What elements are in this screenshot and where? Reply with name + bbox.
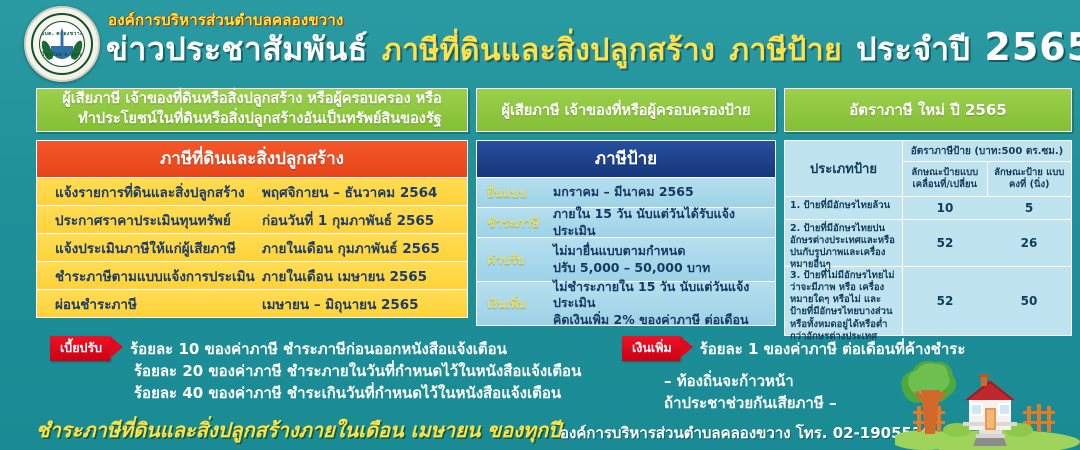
signboard-row-value-line2: ปรับ 5,000 – 50,000 บาท bbox=[553, 260, 769, 276]
column-header-taxpayer-land-line1: ผู้เสียภาษี เจ้าของที่ดินหรือสิ่งปลูกสร้… bbox=[62, 91, 441, 107]
signboard-tax-section-title: ภาษีป้าย bbox=[476, 140, 776, 178]
window-right bbox=[999, 404, 1010, 415]
land-tax-period: ก่อนวันที่ 1 กุมภาพันธ์ 2565 bbox=[262, 209, 467, 231]
land-tax-period: ภายในเดือน กุมภาพันธ์ 2565 bbox=[262, 237, 467, 259]
column-header-new-rate: อัตราภาษี ใหม่ ปี 2565 bbox=[784, 88, 1072, 132]
footer-payment-reminder: ชำระภาษีที่ดินและสิ่งปลูกสร้างภายในเดือน… bbox=[36, 414, 561, 446]
land-tax-period: ภายในเดือน เมษายน 2565 bbox=[262, 265, 467, 287]
step bbox=[979, 430, 1002, 434]
signboard-row-value: ภายใน 15 วัน นับแต่วันได้รับแจ้งประเมิน bbox=[553, 206, 775, 239]
table-row: 3. ป้ายที่ไม่มีอักษรไทยไม่ว่าจะมีภาพ หรื… bbox=[785, 266, 1071, 335]
signboard-row-value-line2: คิดเงินเพิ่ม 2% ของค่าภาษี ต่อเดือน bbox=[553, 312, 769, 328]
table-row: ยื่นแบบ มกราคม – มีนาคม 2565 bbox=[476, 178, 776, 208]
fine-line-3: ร้อยละ 40 ของค่าภาษี ชำระเกินวันที่กำหนด… bbox=[134, 383, 610, 405]
emblem-inner: อบต. คลองขวาง อ.ไทรน้อย จ.นนทบุรี bbox=[39, 21, 85, 67]
fine-line-1: ร้อยละ 10 ของค่าภาษี ชำระภาษีก่อนออกหนัง… bbox=[130, 337, 507, 361]
land-tax-task: แจ้งประเมินภาษีให้แก่ผู้เสียภาษี bbox=[37, 237, 262, 259]
house-and-tree-illustration bbox=[895, 354, 1080, 450]
poster-title-row: ข่าวประชาสัมพันธ์ ภาษีที่ดินและสิ่งปลูกส… bbox=[106, 24, 1080, 75]
table-row: 1. ป้ายที่มีอักษรไทยล้วน 10 5 bbox=[785, 196, 1071, 219]
rate-table-subheader-fixed: ลักษณะป้าย แบบคงที่ (นิ่ง) bbox=[988, 162, 1072, 196]
land-tax-task: ผ่อนชำระภาษี bbox=[37, 293, 262, 315]
signboard-row-label: ยื่นแบบ bbox=[477, 183, 553, 203]
land-tax-task: แจ้งรายการที่ดินและสิ่งปลูกสร้าง bbox=[37, 181, 262, 203]
table-row: ชำระภาษีตามแบบแจ้งการประเมิน ภายในเดือน … bbox=[36, 262, 468, 290]
title-news: ข่าวประชาสัมพันธ์ bbox=[106, 24, 368, 75]
rate-row-description: 1. ป้ายที่มีอักษรไทยล้วน bbox=[785, 197, 903, 219]
table-row: แจ้งรายการที่ดินและสิ่งปลูกสร้าง พฤศจิกา… bbox=[36, 178, 468, 206]
signboard-row-value: มกราคม – มีนาคม 2565 bbox=[553, 184, 775, 200]
title-sign-tax: ภาษีป้าย bbox=[729, 27, 842, 74]
title-year-value: 2565 bbox=[984, 25, 1080, 69]
table-row: ผ่อนชำระภาษี เมษายน – มิถุนายน 2565 bbox=[36, 290, 468, 318]
municipality-emblem-icon: อบต. คลองขวาง อ.ไทรน้อย จ.นนทบุรี bbox=[24, 6, 100, 82]
rate-row-fixed-value: 50 bbox=[987, 267, 1071, 335]
signboard-row-value-line1: ไม่ชำระภายใน 15 วัน นับแต่วันแจ้งประเมิน bbox=[553, 279, 769, 312]
signboard-row-label: ค่าปรับ bbox=[477, 250, 553, 270]
fine-tag-badge: เบี้ยปรับ bbox=[50, 336, 110, 361]
table-row: ค่าปรับ ไม่มายื่นแบบตามกำหนด ปรับ 5,000 … bbox=[476, 238, 776, 282]
table-row: แจ้งประเมินภาษีให้แก่ผู้เสียภาษี ภายในเด… bbox=[36, 234, 468, 262]
signboard-rate-table: ประเภทป้าย อัตราภาษีป้าย (บาท:500 ตร.ซม.… bbox=[784, 140, 1072, 336]
window-left bbox=[971, 404, 982, 415]
title-land-tax: ภาษีที่ดินและสิ่งปลูกสร้าง bbox=[382, 27, 715, 74]
poster-header: อบต. คลองขวาง อ.ไทรน้อย จ.นนทบุรี องค์กา… bbox=[0, 0, 1080, 84]
rate-row-moving-value: 10 bbox=[903, 197, 987, 219]
rate-row-fixed-value: 26 bbox=[987, 220, 1071, 266]
rate-table-type-header: ประเภทป้าย bbox=[785, 141, 903, 196]
signboard-row-value: ไม่มายื่นแบบตามกำหนด ปรับ 5,000 – 50,000… bbox=[553, 243, 775, 276]
signboard-row-value: ไม่ชำระภายใน 15 วัน นับแต่วันแจ้งประเมิน… bbox=[553, 279, 775, 328]
house bbox=[963, 374, 1017, 438]
fine-penalty-block: เบี้ยปรับ ร้อยละ 10 ของค่าภาษี ชำระภาษีก… bbox=[50, 336, 610, 405]
signboard-row-value-line1: ไม่มายื่นแบบตามกำหนด bbox=[553, 243, 769, 259]
rate-row-moving-value: 52 bbox=[903, 220, 987, 266]
rate-row-description: 2. ป้ายที่มีอักษรไทยปน อักษรต่างประเทศแล… bbox=[785, 220, 903, 266]
land-tax-period: พฤศจิกายน – ธันวาคม 2564 bbox=[262, 181, 467, 203]
table-row: 2. ป้ายที่มีอักษรไทยปน อักษรต่างประเทศแล… bbox=[785, 219, 1071, 266]
surcharge-tag-badge: เงินเพิ่ม bbox=[622, 336, 680, 361]
signboard-tax-table: ภาษีป้าย ยื่นแบบ มกราคม – มีนาคม 2565 ชำ… bbox=[476, 140, 776, 326]
emblem-bottom-text: อ.ไทรน้อย จ.นนทบุรี bbox=[39, 51, 85, 59]
column-header-taxpayer-land: ผู้เสียภาษี เจ้าของที่ดินหรือสิ่งปลูกสร้… bbox=[36, 88, 468, 132]
column-header-taxpayer-sign: ผู้เสียภาษี เจ้าของที่หรือผู้ครอบครองป้า… bbox=[476, 88, 776, 132]
table-row: เงินเพิ่ม ไม่ชำระภายใน 15 วัน นับแต่วันแ… bbox=[476, 282, 776, 326]
land-tax-task: ชำระภาษีตามแบบแจ้งการประเมิน bbox=[37, 265, 262, 287]
signboard-row-label: เงินเพิ่ม bbox=[477, 294, 553, 314]
table-row: ชำระภาษี ภายใน 15 วัน นับแต่วันได้รับแจ้… bbox=[476, 208, 776, 238]
rate-row-description: 3. ป้ายที่ไม่มีอักษรไทยไม่ว่าจะมีภาพ หรื… bbox=[785, 267, 903, 335]
rate-table-subheader-moving: ลักษณะป้ายแบบ เคลื่อนที่/เปลี่ยน bbox=[903, 162, 988, 196]
footer-contact: องค์การบริหารส่วนตำบลคลองขวาง โทร. 02-19… bbox=[560, 421, 933, 445]
signboard-row-label: ชำระภาษี bbox=[477, 213, 553, 233]
land-tax-table: ภาษีที่ดินและสิ่งปลูกสร้าง แจ้งรายการที่… bbox=[36, 140, 468, 318]
chimney bbox=[981, 376, 987, 386]
rate-table-group-header: อัตราภาษีป้าย (บาท:500 ตร.ซม.) bbox=[903, 141, 1071, 162]
land-tax-period: เมษายน – มิถุนายน 2565 bbox=[262, 293, 467, 315]
fine-first-line: เบี้ยปรับ ร้อยละ 10 ของค่าภาษี ชำระภาษีก… bbox=[50, 336, 610, 361]
infographic-poster: อบต. คลองขวาง อ.ไทรน้อย จ.นนทบุรี องค์กา… bbox=[0, 0, 1080, 450]
tree bbox=[901, 361, 956, 434]
rate-row-moving-value: 52 bbox=[903, 267, 987, 335]
fine-line-2: ร้อยละ 20 ของค่าภาษี ชำระภายในวันที่กำหน… bbox=[134, 361, 610, 383]
title-year-label: ประจำปี bbox=[856, 24, 970, 75]
rate-table-group: อัตราภาษีป้าย (บาท:500 ตร.ซม.) ลักษณะป้า… bbox=[903, 141, 1071, 196]
land-tax-section-title: ภาษีที่ดินและสิ่งปลูกสร้าง bbox=[36, 140, 468, 178]
rate-table-subheaders: ลักษณะป้ายแบบ เคลื่อนที่/เปลี่ยน ลักษณะป… bbox=[903, 162, 1071, 196]
column-header-taxpayer-land-line2: ทำประโยชน์ในที่ดินหรือสิ่งปลูกสร้างอันเป… bbox=[62, 110, 441, 130]
rate-row-fixed-value: 5 bbox=[987, 197, 1071, 219]
rate-table-header: ประเภทป้าย อัตราภาษีป้าย (บาท:500 ตร.ซม.… bbox=[785, 141, 1071, 196]
land-tax-task: ประกาศราคาประเมินทุนทรัพย์ bbox=[37, 209, 262, 231]
table-row: ประกาศราคาประเมินทุนทรัพย์ ก่อนวันที่ 1 … bbox=[36, 206, 468, 234]
